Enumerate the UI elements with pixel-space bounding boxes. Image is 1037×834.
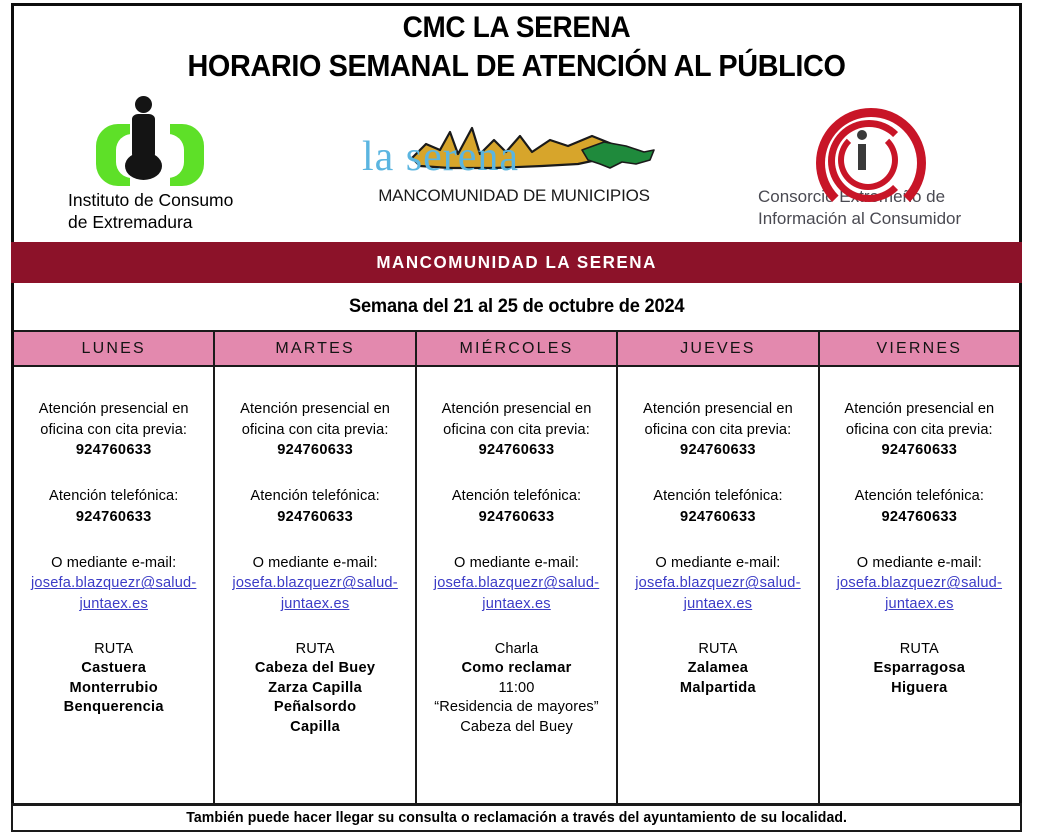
email-label: O mediante e-mail: <box>22 553 205 574</box>
organization-banner-text: MANCOMUNIDAD LA SERENA <box>376 252 657 273</box>
activity-line: Benquerencia <box>22 698 205 718</box>
email-link-line2[interactable]: juntaex.es <box>828 594 1011 615</box>
email-label: O mediante e-mail: <box>626 553 809 574</box>
logo-row: Instituto de Consumo de Extremadura la s… <box>14 102 1019 238</box>
week-range-text: Semana del 21 al 25 de octubre de 2024 <box>349 296 684 318</box>
day-header-lunes: LUNES <box>14 332 215 365</box>
activity-block: RUTA Zalamea Malpartida <box>626 640 809 699</box>
telefonica-label: Atención telefónica: <box>626 486 809 507</box>
presencial-line2: oficina con cita previa: <box>828 420 1011 441</box>
email-link-line1[interactable]: josefa.blazquezr@salud- <box>626 573 809 594</box>
presencial-line1: Atención presencial en <box>626 399 809 420</box>
weekly-schedule-table: LUNES MARTES MIÉRCOLES JUEVES VIERNES At… <box>14 330 1019 803</box>
telefonica-phone: 924760633 <box>828 507 1011 528</box>
telefonica-label: Atención telefónica: <box>22 486 205 507</box>
presencial-block: Atención presencial en oficina con cita … <box>425 399 608 461</box>
activity-title: RUTA <box>626 640 809 660</box>
poster-root: CMC LA SERENA HORARIO SEMANAL DE ATENCIÓ… <box>0 0 1037 834</box>
activity-block: Charla Como reclamar 11:00 “Residencia d… <box>425 640 608 738</box>
presencial-line1: Atención presencial en <box>223 399 406 420</box>
poster-header: CMC LA SERENA HORARIO SEMANAL DE ATENCIÓ… <box>14 6 1019 241</box>
presencial-line1: Atención presencial en <box>828 399 1011 420</box>
logo-la-serena: la serena MANCOMUNIDAD DE MUNICIPIOS <box>354 110 674 206</box>
activity-line: 11:00 <box>425 679 608 699</box>
consorcio-info-stem-icon <box>858 144 866 170</box>
activity-line: Cabeza del Buey <box>425 718 608 738</box>
page-title-primary: CMC LA SERENA <box>49 12 984 44</box>
presencial-block: Atención presencial en oficina con cita … <box>223 399 406 461</box>
page-title-secondary: HORARIO SEMANAL DE ATENCIÓN AL PÚBLICO <box>49 48 984 84</box>
activity-line: Capilla <box>223 718 406 738</box>
day-column-martes: Atención presencial en oficina con cita … <box>215 367 416 803</box>
email-block: O mediante e-mail: josefa.blazquezr@salu… <box>425 553 608 615</box>
activity-line: Peñalsordo <box>223 698 406 718</box>
presencial-block: Atención presencial en oficina con cita … <box>626 399 809 461</box>
presencial-phone: 924760633 <box>626 440 809 461</box>
activity-line: Como reclamar <box>425 659 608 679</box>
activity-title: Charla <box>425 640 608 660</box>
activity-line: Higuera <box>828 679 1011 699</box>
activity-line: Cabeza del Buey <box>223 659 406 679</box>
logo-consorcio-extremeno: Consorcio Extremeño de Información al Co… <box>714 104 1014 230</box>
consorcio-icon <box>714 104 1014 186</box>
day-header-viernes: VIERNES <box>820 332 1019 365</box>
activity-line: Zalamea <box>626 659 809 679</box>
email-link-line1[interactable]: josefa.blazquezr@salud- <box>828 573 1011 594</box>
presencial-line2: oficina con cita previa: <box>223 420 406 441</box>
presencial-block: Atención presencial en oficina con cita … <box>828 399 1011 461</box>
activity-title: RUTA <box>223 640 406 660</box>
email-label: O mediante e-mail: <box>425 553 608 574</box>
day-column-lunes: Atención presencial en oficina con cita … <box>14 367 215 803</box>
day-header-row: LUNES MARTES MIÉRCOLES JUEVES VIERNES <box>14 330 1019 367</box>
logo-instituto-consumo: Instituto de Consumo de Extremadura <box>36 102 326 234</box>
presencial-block: Atención presencial en oficina con cita … <box>22 399 205 461</box>
day-header-miercoles: MIÉRCOLES <box>417 332 618 365</box>
person-body-icon <box>132 114 155 170</box>
instituto-consumo-icon <box>36 102 326 188</box>
email-link-line2[interactable]: juntaex.es <box>22 594 205 615</box>
telefonica-block: Atención telefónica: 924760633 <box>223 486 406 527</box>
presencial-phone: 924760633 <box>223 440 406 461</box>
telefonica-block: Atención telefónica: 924760633 <box>828 486 1011 527</box>
week-range-row: Semana del 21 al 25 de octubre de 2024 <box>14 284 1019 329</box>
email-block: O mediante e-mail: josefa.blazquezr@salu… <box>626 553 809 615</box>
consorcio-info-dot-icon <box>857 130 867 140</box>
day-header-jueves: JUEVES <box>618 332 819 365</box>
presencial-line2: oficina con cita previa: <box>22 420 205 441</box>
email-link-line2[interactable]: juntaex.es <box>425 594 608 615</box>
activity-line: Malpartida <box>626 679 809 699</box>
presencial-line1: Atención presencial en <box>22 399 205 420</box>
telefonica-phone: 924760633 <box>425 507 608 528</box>
footer-note-text: También puede hacer llegar su consulta o… <box>186 810 847 826</box>
email-label: O mediante e-mail: <box>223 553 406 574</box>
email-link-line1[interactable]: josefa.blazquezr@salud- <box>425 573 608 594</box>
email-block: O mediante e-mail: josefa.blazquezr@salu… <box>22 553 205 615</box>
activity-line: Castuera <box>22 659 205 679</box>
presencial-phone: 924760633 <box>828 440 1011 461</box>
telefonica-phone: 924760633 <box>22 507 205 528</box>
activity-line: Monterrubio <box>22 679 205 699</box>
telefonica-block: Atención telefónica: 924760633 <box>626 486 809 527</box>
email-block: O mediante e-mail: josefa.blazquezr@salu… <box>223 553 406 615</box>
activity-block: RUTA Esparragosa Higuera <box>828 640 1011 699</box>
telefonica-block: Atención telefónica: 924760633 <box>22 486 205 527</box>
activity-title: RUTA <box>22 640 205 660</box>
telefonica-label: Atención telefónica: <box>425 486 608 507</box>
telefonica-block: Atención telefónica: 924760633 <box>425 486 608 527</box>
presencial-phone: 924760633 <box>425 440 608 461</box>
presencial-phone: 924760633 <box>22 440 205 461</box>
day-column-viernes: Atención presencial en oficina con cita … <box>820 367 1019 803</box>
la-serena-caption: MANCOMUNIDAD DE MUNICIPIOS <box>354 186 674 206</box>
activity-block: RUTA Cabeza del Buey Zarza Capilla Peñal… <box>223 640 406 738</box>
instituto-consumo-caption-line2: de Extremadura <box>68 212 326 234</box>
email-link-line2[interactable]: juntaex.es <box>223 594 406 615</box>
day-header-martes: MARTES <box>215 332 416 365</box>
organization-banner: MANCOMUNIDAD LA SERENA <box>11 242 1022 283</box>
instituto-consumo-caption-line1: Instituto de Consumo <box>68 190 326 212</box>
email-label: O mediante e-mail: <box>828 553 1011 574</box>
activity-block: RUTA Castuera Monterrubio Benquerencia <box>22 640 205 718</box>
telefonica-label: Atención telefónica: <box>223 486 406 507</box>
telefonica-phone: 924760633 <box>626 507 809 528</box>
activity-line: “Residencia de mayores” <box>425 698 608 718</box>
activity-line: Zarza Capilla <box>223 679 406 699</box>
footer-note-row: También puede hacer llegar su consulta o… <box>11 803 1022 832</box>
email-block: O mediante e-mail: josefa.blazquezr@salu… <box>828 553 1011 615</box>
email-link-line1[interactable]: josefa.blazquezr@salud- <box>223 573 406 594</box>
presencial-line2: oficina con cita previa: <box>626 420 809 441</box>
presencial-line1: Atención presencial en <box>425 399 608 420</box>
la-serena-wordmark: la serena <box>354 136 682 178</box>
instituto-consumo-caption: Instituto de Consumo de Extremadura <box>36 190 326 234</box>
email-link-line1[interactable]: josefa.blazquezr@salud- <box>22 573 205 594</box>
day-body-row: Atención presencial en oficina con cita … <box>14 367 1019 803</box>
presencial-line2: oficina con cita previa: <box>425 420 608 441</box>
day-column-miercoles: Atención presencial en oficina con cita … <box>417 367 618 803</box>
day-column-jueves: Atención presencial en oficina con cita … <box>618 367 819 803</box>
telefonica-label: Atención telefónica: <box>828 486 1011 507</box>
activity-title: RUTA <box>828 640 1011 660</box>
person-head-icon <box>135 96 152 113</box>
activity-line: Esparragosa <box>828 659 1011 679</box>
consorcio-ring-inner-icon <box>838 130 898 190</box>
bracket-inner-right-icon <box>158 134 184 178</box>
telefonica-phone: 924760633 <box>223 507 406 528</box>
email-link-line2[interactable]: juntaex.es <box>626 594 809 615</box>
